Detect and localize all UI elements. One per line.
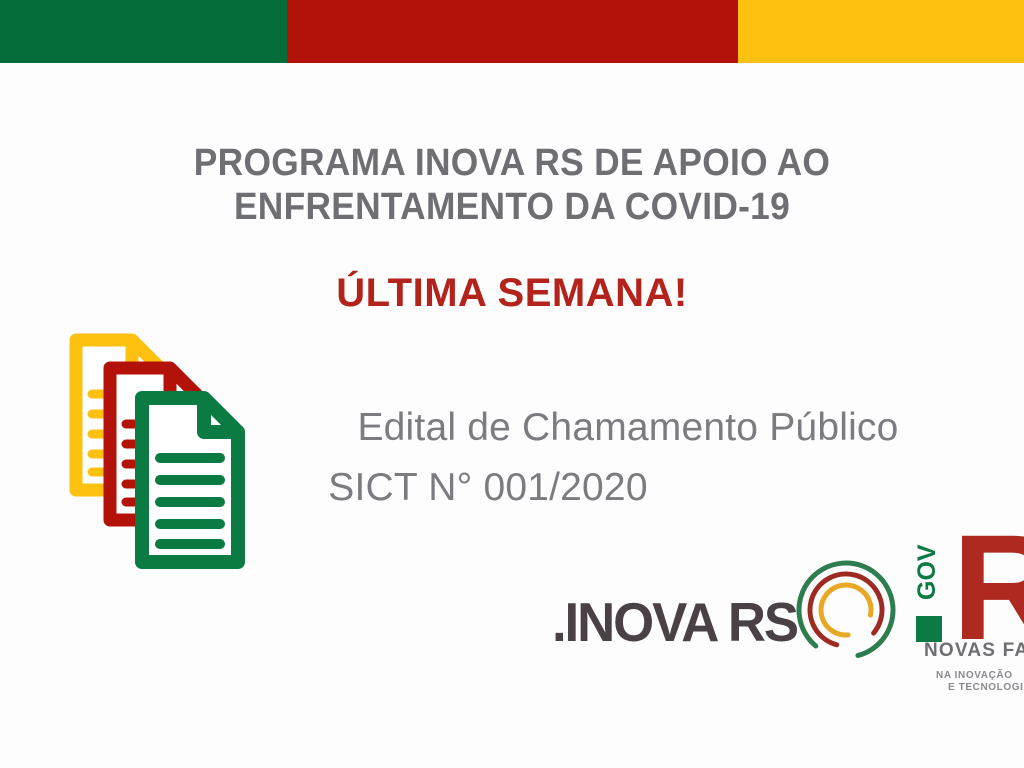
inova-swirl-icon: [792, 556, 900, 664]
topbar-segment-red: [287, 0, 738, 63]
topbar-segment-yellow: [738, 0, 1024, 63]
gov-rs-logo: GOV RS NOVAS FASES NA INOVAÇÃO E TECNOLO…: [914, 528, 1024, 698]
topbar-segment-green: [0, 0, 287, 63]
gov-tagline-primary: NOVAS FASES: [924, 640, 1024, 662]
inova-rs-logo: .INOVA RS: [552, 556, 900, 664]
urgency-kicker: ÚLTIMA SEMANA!: [0, 270, 1024, 316]
page-title-line-2: ENFRENTAMENTO DA COVID-19: [36, 185, 988, 229]
document-front-green: [142, 398, 238, 562]
gov-label: GOV: [914, 534, 940, 610]
gov-tagline-secondary-line-1: NA INOVAÇÃO: [936, 670, 1024, 682]
promo-slide: PROGRAMA INOVA RS DE APOIO AO ENFRENTAME…: [0, 0, 1024, 768]
gov-tagline-secondary-line-2: E TECNOLOGIA: [936, 682, 1024, 694]
subtitle-line-2: SICT N° 001/2020: [268, 458, 988, 518]
subtitle: Edital de Chamamento Público SICT N° 001…: [268, 398, 988, 518]
subtitle-line-1: Edital de Chamamento Público: [268, 398, 988, 458]
gov-tagline-secondary: NA INOVAÇÃO E TECNOLOGIA: [936, 670, 1024, 694]
page-title: PROGRAMA INOVA RS DE APOIO AO ENFRENTAME…: [36, 141, 988, 229]
page-title-line-1: PROGRAMA INOVA RS DE APOIO AO: [36, 141, 988, 185]
gov-square-mark: [916, 616, 942, 642]
tricolor-top-bar: [0, 0, 1024, 63]
stacked-documents-icon: [24, 326, 256, 578]
inova-rs-wordmark: .INOVA RS: [552, 594, 797, 650]
